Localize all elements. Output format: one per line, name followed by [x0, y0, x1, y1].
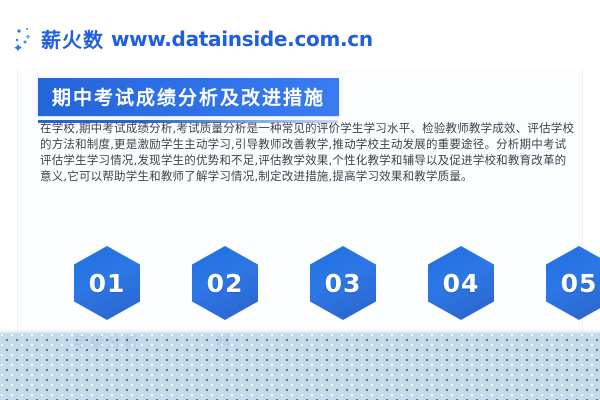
brand-logo[interactable]: 薪火数 www.datainside.com.cn — [14, 24, 373, 53]
hexagon-badge: 04 — [428, 246, 494, 320]
hexagon-badge: 03 — [310, 246, 376, 320]
section-title-wrap: 期中考试成绩分析及改进措施 — [38, 78, 339, 123]
step-number: 03 — [325, 269, 362, 298]
step-item-05[interactable]: 05 — [542, 246, 600, 332]
paragraph-line: 的方法和制度,更是激励学生主动学习,引导教师改善教学,推动学校主动发展的重要途径… — [40, 136, 600, 152]
step-number: 02 — [207, 269, 244, 298]
step-number: 04 — [443, 269, 480, 298]
dotted-overlay — [0, 333, 600, 400]
hexagon-badge: 02 — [192, 246, 258, 320]
body-paragraph: 在学校,期中考试成绩分析,考试质量分析是一种常见的评价学生学习水平、检验教师教学… — [40, 120, 600, 184]
brand-url[interactable]: www.datainside.com.cn — [111, 27, 373, 51]
step-number: 05 — [561, 269, 598, 298]
step-number: 01 — [89, 269, 126, 298]
step-item-03[interactable]: 03 — [306, 246, 380, 332]
hexagon-badge: 05 — [546, 246, 600, 320]
slide-page: 薪火数 www.datainside.com.cn 期中考试成绩分析及改进措施 … — [0, 0, 600, 400]
hexagon-badge: 01 — [74, 246, 140, 320]
sparkle-icon — [14, 26, 34, 52]
brand-name-cn: 薪火数 — [41, 24, 104, 53]
page-title: 期中考试成绩分析及改进措施 — [38, 78, 339, 116]
paragraph-line: 意义,它可以帮助学生和教师了解学习情况,制定改进措施,提高学习效果和教学质量。 — [40, 168, 600, 184]
step-item-04[interactable]: 04 — [424, 246, 498, 332]
paragraph-line: 评估学生学习情况,发现学生的优势和不足,评估教学效果,个性化教学和辅导以及促进学… — [40, 152, 600, 168]
paragraph-line: 在学校,期中考试成绩分析,考试质量分析是一种常见的评价学生学习水平、检验教师教学… — [40, 120, 600, 136]
page-header: 薪火数 www.datainside.com.cn — [0, 0, 600, 68]
